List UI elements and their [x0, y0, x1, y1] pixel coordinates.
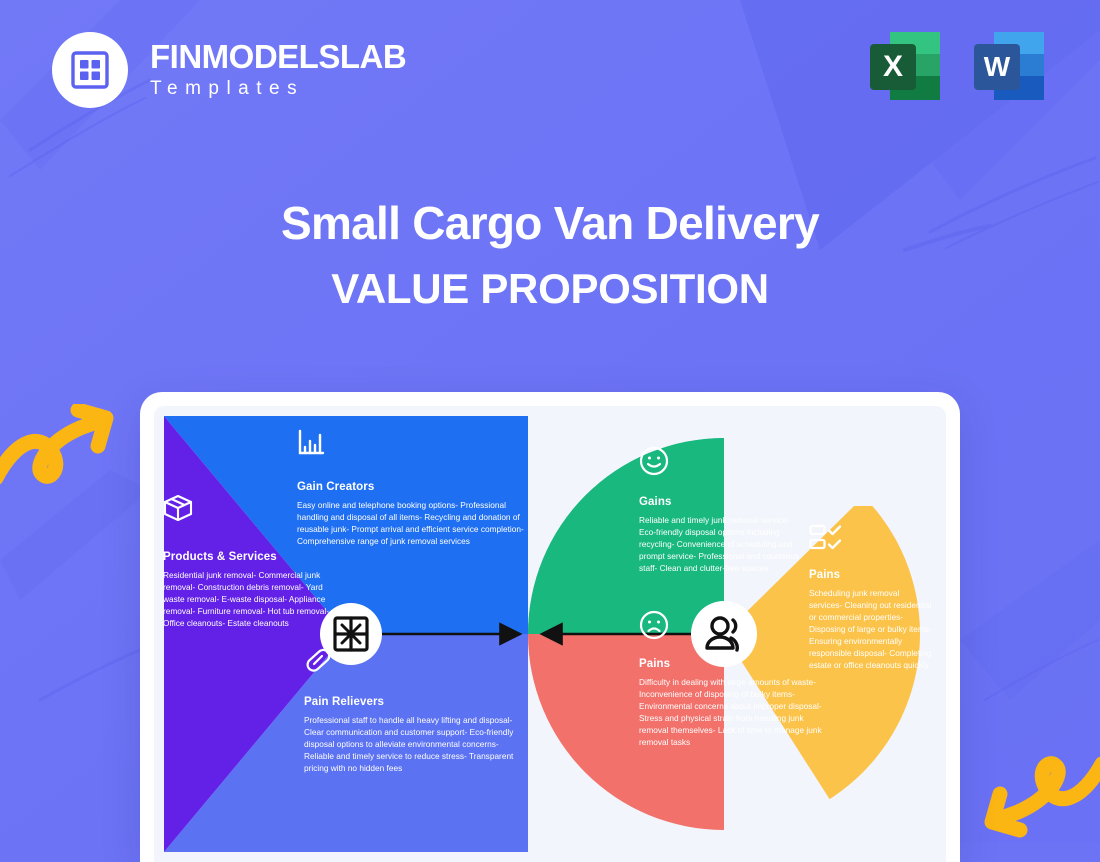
section-heading: Pain Relievers: [304, 696, 516, 708]
header: FINMODELSLAB Templates X W: [0, 0, 1100, 140]
smiley-face-icon: [639, 446, 669, 481]
section-heading: Pains: [639, 658, 829, 670]
section-body: Reliable and timely junk removal service…: [639, 514, 802, 574]
section-heading: Products & Services: [163, 551, 331, 563]
pill-capsule-icon: [304, 646, 332, 679]
section-body: Professional staff to handle all heavy l…: [304, 714, 516, 774]
laptop-device-frame: Gain Creators Easy online and telephone …: [140, 392, 960, 862]
brand-name: FINMODELSLAB: [150, 40, 406, 74]
section-body: Residential junk removal- Commercial jun…: [163, 569, 331, 629]
device-screen: Gain Creators Easy online and telephone …: [154, 406, 946, 862]
word-icon[interactable]: W: [972, 26, 1048, 106]
section-pains-jobs: Pains Scheduling junk removal services- …: [809, 569, 932, 671]
brand-tagline: Templates: [150, 78, 406, 100]
word-letter: W: [984, 51, 1011, 82]
section-body: Difficulty in dealing with large amounts…: [639, 676, 829, 748]
bar-chart-icon: [297, 428, 325, 461]
section-products-services: Products & Services Residential junk rem…: [163, 551, 331, 629]
box-package-icon: [163, 494, 193, 527]
section-heading: Gains: [639, 496, 802, 508]
section-heading: Gain Creators: [297, 481, 525, 493]
section-gain-creators: Gain Creators Easy online and telephone …: [297, 481, 525, 547]
section-body: Easy online and telephone booking option…: [297, 499, 525, 547]
grid-squares-icon: [52, 32, 128, 108]
brand-logo[interactable]: FINMODELSLAB Templates: [52, 32, 406, 108]
squiggle-arrow-up-right-icon: [0, 404, 122, 496]
page-title: Small Cargo Van Delivery: [0, 196, 1100, 250]
section-gains: Gains Reliable and timely junk removal s…: [639, 496, 802, 574]
squiggle-arrow-down-left-icon: [970, 752, 1100, 844]
section-pains: Pains Difficulty in dealing with large a…: [639, 658, 829, 748]
excel-letter: X: [883, 50, 903, 83]
page-subtitle: VALUE PROPOSITION: [0, 264, 1100, 314]
title-block: Small Cargo Van Delivery VALUE PROPOSITI…: [0, 196, 1100, 314]
excel-icon[interactable]: X: [868, 26, 944, 106]
office-format-badges: X W: [868, 26, 1048, 106]
sad-face-icon: [639, 610, 669, 645]
checklist-icon: [809, 524, 843, 557]
section-heading: Pains: [809, 569, 932, 581]
section-pain-relievers: Pain Relievers Professional staff to han…: [304, 696, 516, 774]
